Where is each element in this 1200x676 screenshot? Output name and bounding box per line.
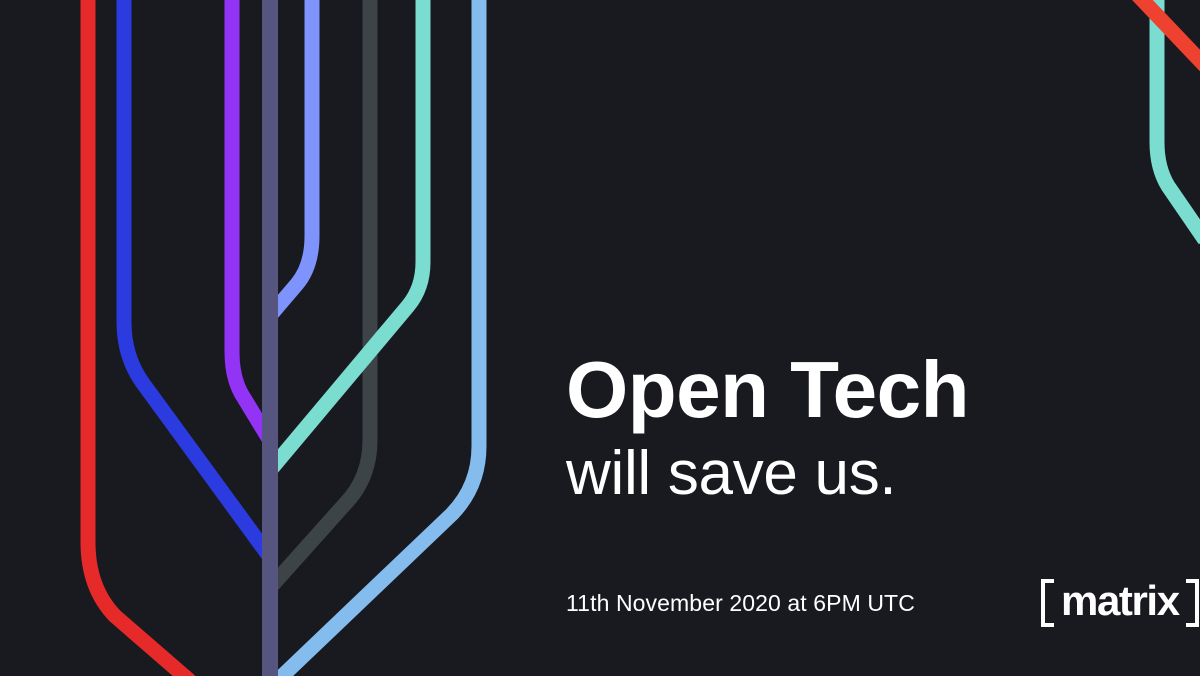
event-date-text: 11th November 2020 at 6PM UTC — [566, 590, 915, 617]
matrix-branching-lines-artwork — [0, 0, 1200, 676]
page-subtitle: will save us. — [566, 443, 1126, 505]
brand-wordmark: matrix — [1055, 580, 1185, 626]
page-title: Open Tech — [566, 352, 1126, 429]
teal-line — [272, 0, 423, 468]
matrix-logo: matrix — [1041, 578, 1199, 628]
red-line — [88, 0, 190, 676]
headline-block: Open Tech will save us. — [566, 352, 1126, 505]
bracket-left-icon — [1041, 579, 1055, 627]
blue-line — [124, 0, 272, 560]
corner-red-line — [1131, 0, 1200, 92]
bracket-right-icon — [1185, 579, 1199, 627]
poster-canvas: Open Tech will save us. 11th November 20… — [0, 0, 1200, 676]
